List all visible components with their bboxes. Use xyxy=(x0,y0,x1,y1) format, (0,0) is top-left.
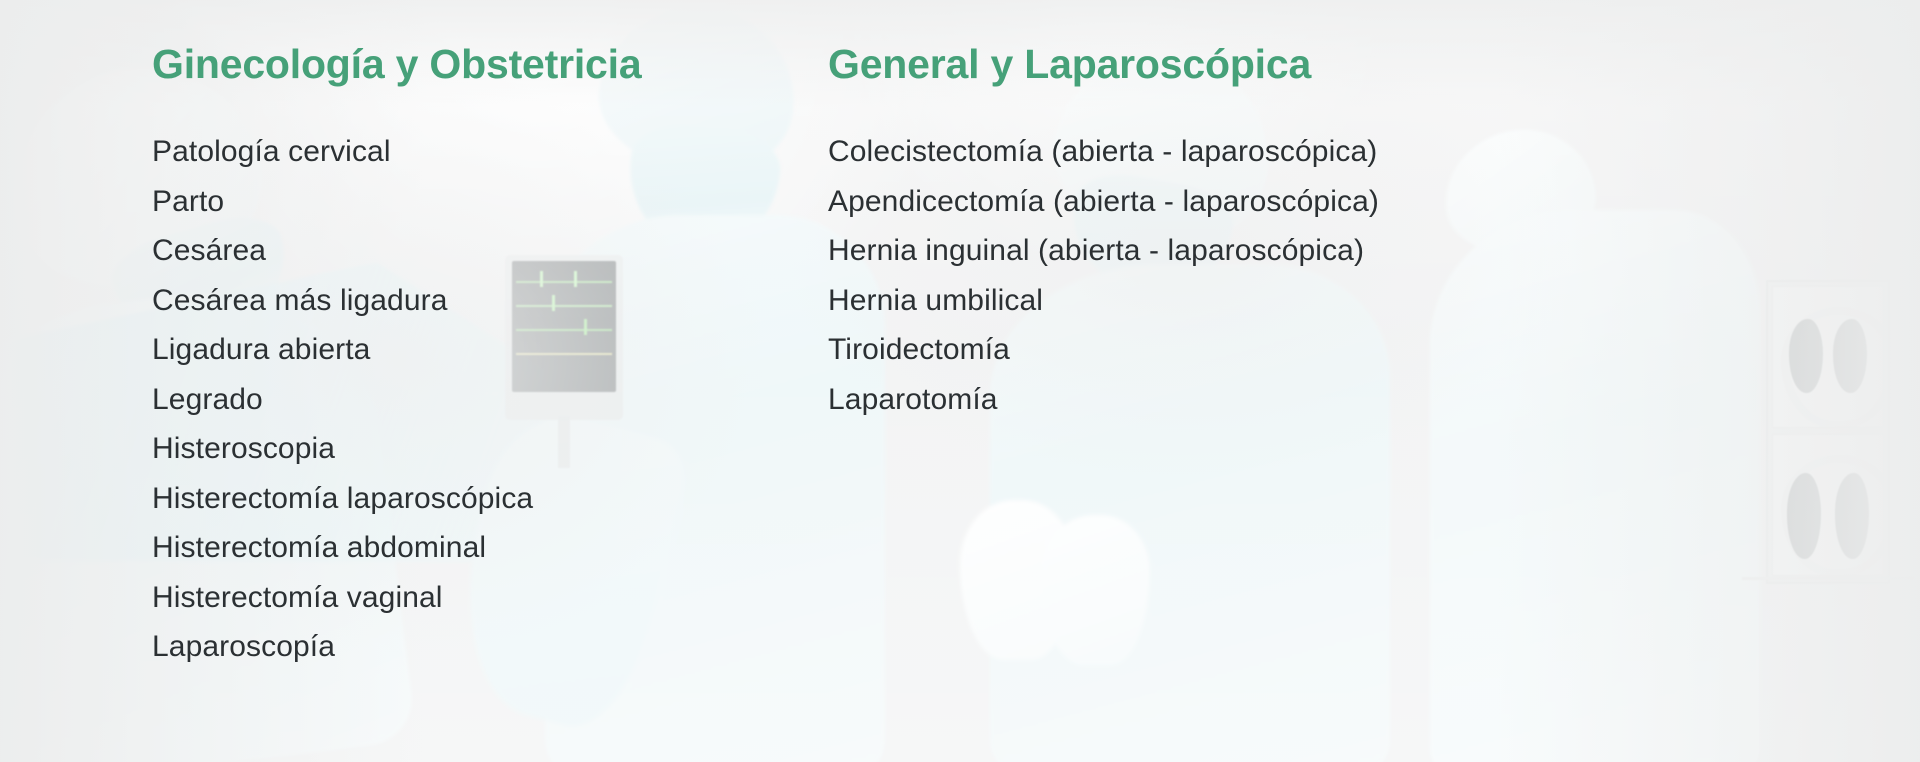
content-layer: Ginecología y Obstetricia Patología cerv… xyxy=(0,0,1920,762)
list-item: Patología cervical xyxy=(152,127,772,177)
procedure-list-general: Colecistectomía (abierta - laparoscópica… xyxy=(828,127,1528,424)
list-item: Cesárea xyxy=(152,226,772,276)
column-title-general: General y Laparoscópica xyxy=(828,0,1528,85)
list-item: Histerectomía laparoscópica xyxy=(152,474,772,524)
list-item: Hernia umbilical xyxy=(828,276,1528,326)
list-item: Hernia inguinal (abierta - laparoscópica… xyxy=(828,226,1528,276)
list-item: Histerectomía abdominal xyxy=(152,523,772,573)
list-item: Laparoscopía xyxy=(152,622,772,672)
list-item: Ligadura abierta xyxy=(152,325,772,375)
list-item: Colecistectomía (abierta - laparoscópica… xyxy=(828,127,1528,177)
slide-root: Ginecología y Obstetricia Patología cerv… xyxy=(0,0,1920,762)
list-item: Histeroscopia xyxy=(152,424,772,474)
list-item: Legrado xyxy=(152,375,772,425)
list-item: Apendicectomía (abierta - laparoscópica) xyxy=(828,177,1528,227)
list-item: Laparotomía xyxy=(828,375,1528,425)
column-title-ginecologia: Ginecología y Obstetricia xyxy=(152,0,772,85)
column-ginecologia: Ginecología y Obstetricia Patología cerv… xyxy=(152,0,772,672)
list-item: Cesárea más ligadura xyxy=(152,276,772,326)
list-item: Histerectomía vaginal xyxy=(152,573,772,623)
procedure-list-ginecologia: Patología cervical Parto Cesárea Cesárea… xyxy=(152,127,772,672)
list-item: Tiroidectomía xyxy=(828,325,1528,375)
column-general: General y Laparoscópica Colecistectomía … xyxy=(828,0,1528,424)
list-item: Parto xyxy=(152,177,772,227)
